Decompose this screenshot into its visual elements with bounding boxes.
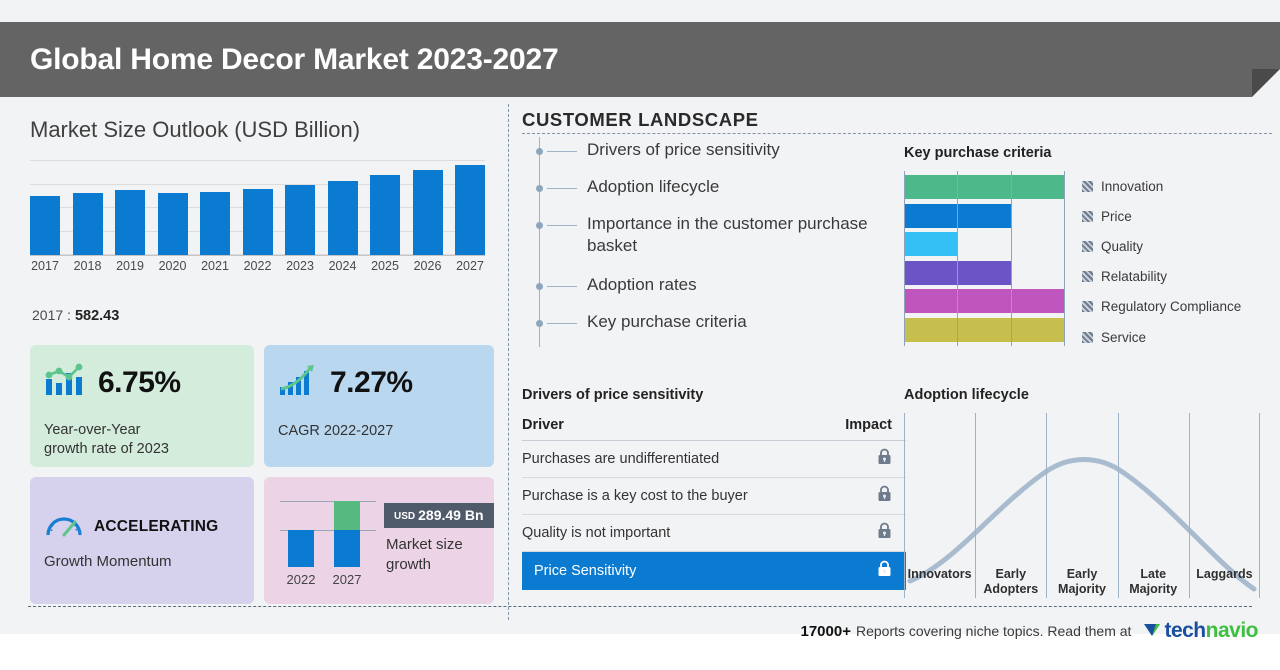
drivers-title: Drivers of price sensitivity [522,387,906,403]
driver-name: Purchases are undifferentiated [522,451,719,467]
driver-name: Purchase is a key cost to the buyer [522,488,748,504]
kpi-value-yoy: 6.75% [98,366,181,400]
bullet-dot-icon [536,320,543,327]
lock-icon [877,485,892,507]
chart-x-label: 2023 [285,259,315,273]
header-bar: Global Home Decor Market 2023-2027 [0,22,1280,97]
lock-icon [877,448,892,470]
chart-x-axis-labels: 2017201820192020202120222023202420252026… [30,259,485,273]
mini-gridline-top [280,501,376,502]
landscape-item[interactable]: Adoption lifecycle [539,176,919,199]
chart-x-label: 2022 [243,259,273,273]
adoption-title: Adoption lifecycle [904,387,1280,403]
kpc-title: Key purchase criteria [904,145,1280,161]
kpc-gridline [904,171,905,346]
chart-x-label: 2020 [158,259,188,273]
kpi-caption-cagr: CAGR 2022-2027 [278,423,393,439]
chart-bar [243,189,273,256]
kpc-bar [904,175,1064,199]
chart-x-label: 2017 [30,259,60,273]
chart-bars [30,160,485,255]
adoption-gridline [975,413,976,598]
bar-line-chart-icon [44,363,86,402]
chart-bar [455,165,485,255]
bullet-dot-icon [536,283,543,290]
landscape-item-label: Key purchase criteria [587,311,747,334]
legend-swatch-icon [1082,301,1093,312]
page-title: Global Home Decor Market 2023-2027 [30,43,558,77]
legend-swatch-icon [1082,271,1093,282]
section-title-customer-landscape: CUSTOMER LANDSCAPE [522,109,759,131]
chart-bar [285,185,315,255]
landscape-item-label: Adoption lifecycle [587,176,719,199]
adoption-category-label: Early Adopters [975,567,1046,596]
chart-note-year: 2017 : [32,307,71,323]
column-header-impact: Impact [845,417,892,433]
drivers-table-header: Driver Impact [522,417,906,441]
adoption-category-label: Laggards [1189,567,1260,596]
technavio-arrow-icon [1143,620,1164,643]
landscape-item-label: Drivers of price sensitivity [587,139,780,162]
infographic-canvas: Global Home Decor Market 2023-2027 Marke… [0,0,1280,670]
bullet-dot-icon [536,185,543,192]
chart-x-label: 2027 [455,259,485,273]
legend-label: Innovation [1101,179,1163,194]
landscape-item[interactable]: Drivers of price sensitivity [539,139,919,162]
kpc-bars [904,175,1064,342]
footer-text: Reports covering niche topics. Read them… [856,623,1131,639]
legend-swatch-icon [1082,211,1093,222]
adoption-lifecycle-chart: Adoption lifecycle InnovatorsEarly Adopt… [904,387,1280,598]
logo-text-tech: tech [1164,619,1205,643]
chart-note: 2017 :582.43 [32,307,119,324]
adoption-category-label: Early Majority [1046,567,1117,596]
report-count: 17000+ [800,623,850,640]
legend-swatch-icon [1082,241,1093,252]
kpc-gridline [1064,171,1065,346]
lock-icon [877,522,892,544]
chart-x-label: 2025 [370,259,400,273]
growth-badge-value: 289.49 Bn [418,507,483,523]
landscape-item[interactable]: Adoption rates [539,274,919,297]
key-purchase-criteria-chart: Key purchase criteria InnovationPriceQua… [904,145,1280,352]
customer-landscape-panel: CUSTOMER LANDSCAPE Drivers of price sens… [508,97,1280,634]
chart-bar [328,181,358,255]
kpc-gridline [957,171,958,346]
growth-value-badge: USD289.49 Bn [384,503,494,528]
adoption-gridline [1259,413,1260,598]
legend-label: Relatability [1101,269,1167,284]
driver-name: Price Sensitivity [534,563,636,579]
landscape-item[interactable]: Key purchase criteria [539,311,919,334]
kpi-card-yoy: 6.75% Year-over-Year growth rate of 2023 [30,345,254,467]
kpi-value-cagr: 7.27% [330,366,413,400]
kpc-legend-item: Service [1082,322,1241,352]
kpc-legend-item: Quality [1082,231,1241,261]
kpc-body: InnovationPriceQualityRelatabilityRegula… [904,171,1280,352]
chart-x-label: 2026 [413,259,443,273]
mini-xlabel-2027: 2027 [327,572,367,587]
chart-bar [200,192,230,255]
driver-name: Quality is not important [522,525,670,541]
connector-line [547,188,577,189]
section-title-market-size: Market Size Outlook (USD Billion) [30,117,360,143]
column-header-driver: Driver [522,417,564,433]
drivers-table-body: Purchases are undifferentiatedPurchase i… [522,441,906,590]
kpc-legend-item: Innovation [1082,171,1241,201]
drivers-table: Drivers of price sensitivity Driver Impa… [522,387,906,590]
kpc-legend-item: Relatability [1082,262,1241,292]
connector-line [547,225,577,226]
adoption-gridline [904,413,905,598]
chart-x-label: 2019 [115,259,145,273]
growth-badge-unit: USD [394,511,415,522]
connector-line [547,151,577,152]
momentum-label: ACCELERATING [94,518,218,536]
growth-arrow-chart-icon [278,363,318,402]
market-size-bar-chart [30,160,485,255]
kpc-bar [904,289,1064,313]
chart-bar [115,190,145,255]
adoption-plot-area: InnovatorsEarly AdoptersEarly MajorityLa… [904,413,1260,598]
legend-label: Price [1101,209,1132,224]
chart-x-label: 2021 [200,259,230,273]
legend-label: Service [1101,330,1146,345]
kpc-gridline [1011,171,1012,346]
mini-bar-2027 [334,501,360,567]
legend-swatch-icon [1082,181,1093,192]
mini-bar-2022 [288,530,314,567]
table-row[interactable]: Purchases are undifferentiated [522,441,906,478]
bullet-dot-icon [536,148,543,155]
technavio-logo[interactable]: technavio [1143,619,1258,643]
momentum-caption: Growth Momentum [44,553,172,570]
adoption-gridline [1118,413,1119,598]
legend-label: Quality [1101,239,1143,254]
market-size-growth-mini-chart: 2022 2027 [280,495,376,587]
kpc-legend: InnovationPriceQualityRelatabilityRegula… [1082,171,1241,352]
chart-x-label: 2024 [328,259,358,273]
mini-xlabel-2022: 2022 [281,572,321,587]
kpi-row: 6.75% [44,363,181,402]
landscape-item-list: Drivers of price sensitivityAdoption lif… [539,139,919,348]
speedometer-icon [44,509,84,544]
kpc-legend-item: Regulatory Compliance [1082,292,1241,322]
adoption-gridline [1046,413,1047,598]
chart-axis-line [30,255,485,256]
growth-caption: Market size growth [386,535,463,574]
logo-text-navio: navio [1206,619,1258,643]
kpi-card-cagr: 7.27% CAGR 2022-2027 [264,345,494,467]
kpc-bar [904,318,1064,342]
footer: 17000+ Reports covering niche topics. Re… [0,616,1280,646]
footer-divider [28,606,1252,607]
adoption-gridline [1189,413,1190,598]
legend-swatch-icon [1082,332,1093,343]
connector-line [547,286,577,287]
section-underline [522,133,1272,134]
market-size-panel: Market Size Outlook (USD Billion) 201720… [0,97,508,634]
table-row[interactable]: Purchase is a key cost to the buyer [522,478,906,515]
corner-fold-decoration [1252,69,1280,97]
chart-x-label: 2018 [73,259,103,273]
chart-note-value: 582.43 [75,308,119,324]
bullet-dot-icon [536,222,543,229]
legend-label: Regulatory Compliance [1101,299,1241,314]
adoption-category-label: Innovators [904,567,975,596]
chart-bar [413,170,443,255]
adoption-category-label: Late Majority [1118,567,1189,596]
adoption-category-labels: InnovatorsEarly AdoptersEarly MajorityLa… [904,567,1260,596]
lock-icon [877,560,892,582]
table-row[interactable]: Price Sensitivity [522,552,906,590]
landscape-item-label: Importance in the customer purchase bask… [587,213,919,259]
chart-bar [73,193,103,255]
landscape-item-label: Adoption rates [587,274,697,297]
kpc-plot-area [904,171,1064,346]
kpi-card-momentum: ACCELERATING Growth Momentum [30,477,254,604]
chart-bar [370,175,400,255]
chart-bar [30,196,60,255]
kpi-card-growth: 2022 2027 USD289.49 Bn Market size growt… [264,477,494,604]
kpc-bar [904,232,957,256]
table-row[interactable]: Quality is not important [522,515,906,552]
landscape-item[interactable]: Importance in the customer purchase bask… [539,213,919,259]
kpi-row: 7.27% [278,363,413,402]
chart-bar [158,193,188,255]
kpc-legend-item: Price [1082,201,1241,231]
kpi-caption-yoy: Year-over-Year growth rate of 2023 [44,421,169,460]
connector-line [547,323,577,324]
momentum-row: ACCELERATING [44,509,218,544]
